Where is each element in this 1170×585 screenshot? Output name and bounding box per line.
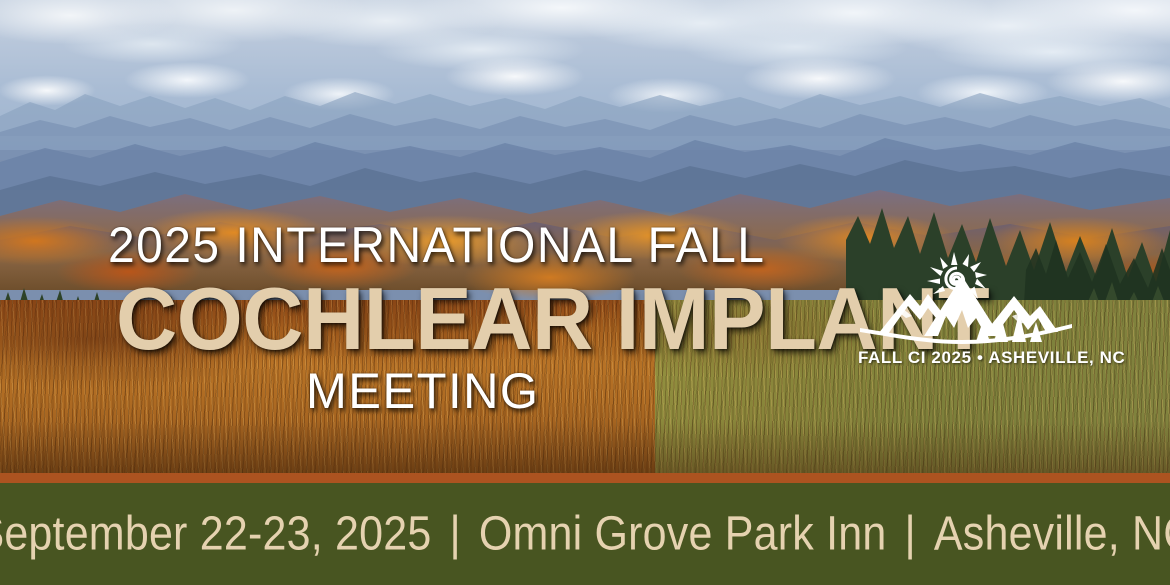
footer-venue: Omni Grove Park Inn <box>479 507 887 562</box>
logo-tagline: FALL CI 2025 • ASHEVILLE, NC <box>858 348 1098 368</box>
footer-date: September 22-23, 2025 <box>0 507 431 562</box>
event-logo: FALL CI 2025 • ASHEVILLE, NC <box>858 248 1098 378</box>
footer-separator-1: | <box>431 507 478 562</box>
footer-bar: September 22-23, 2025 | Omni Grove Park … <box>0 483 1170 585</box>
footer-separator-2: | <box>887 507 934 562</box>
event-banner: 2025 INTERNATIONAL FALL COCHLEAR IMPLANT… <box>0 0 1170 585</box>
logo-artwork <box>858 248 1098 353</box>
mountain-range-icon <box>860 276 1078 344</box>
footer-details: September 22-23, 2025 | Omni Grove Park … <box>0 477 1170 585</box>
background-photo <box>0 0 1170 473</box>
footer-location: Asheville, NC <box>934 507 1170 562</box>
